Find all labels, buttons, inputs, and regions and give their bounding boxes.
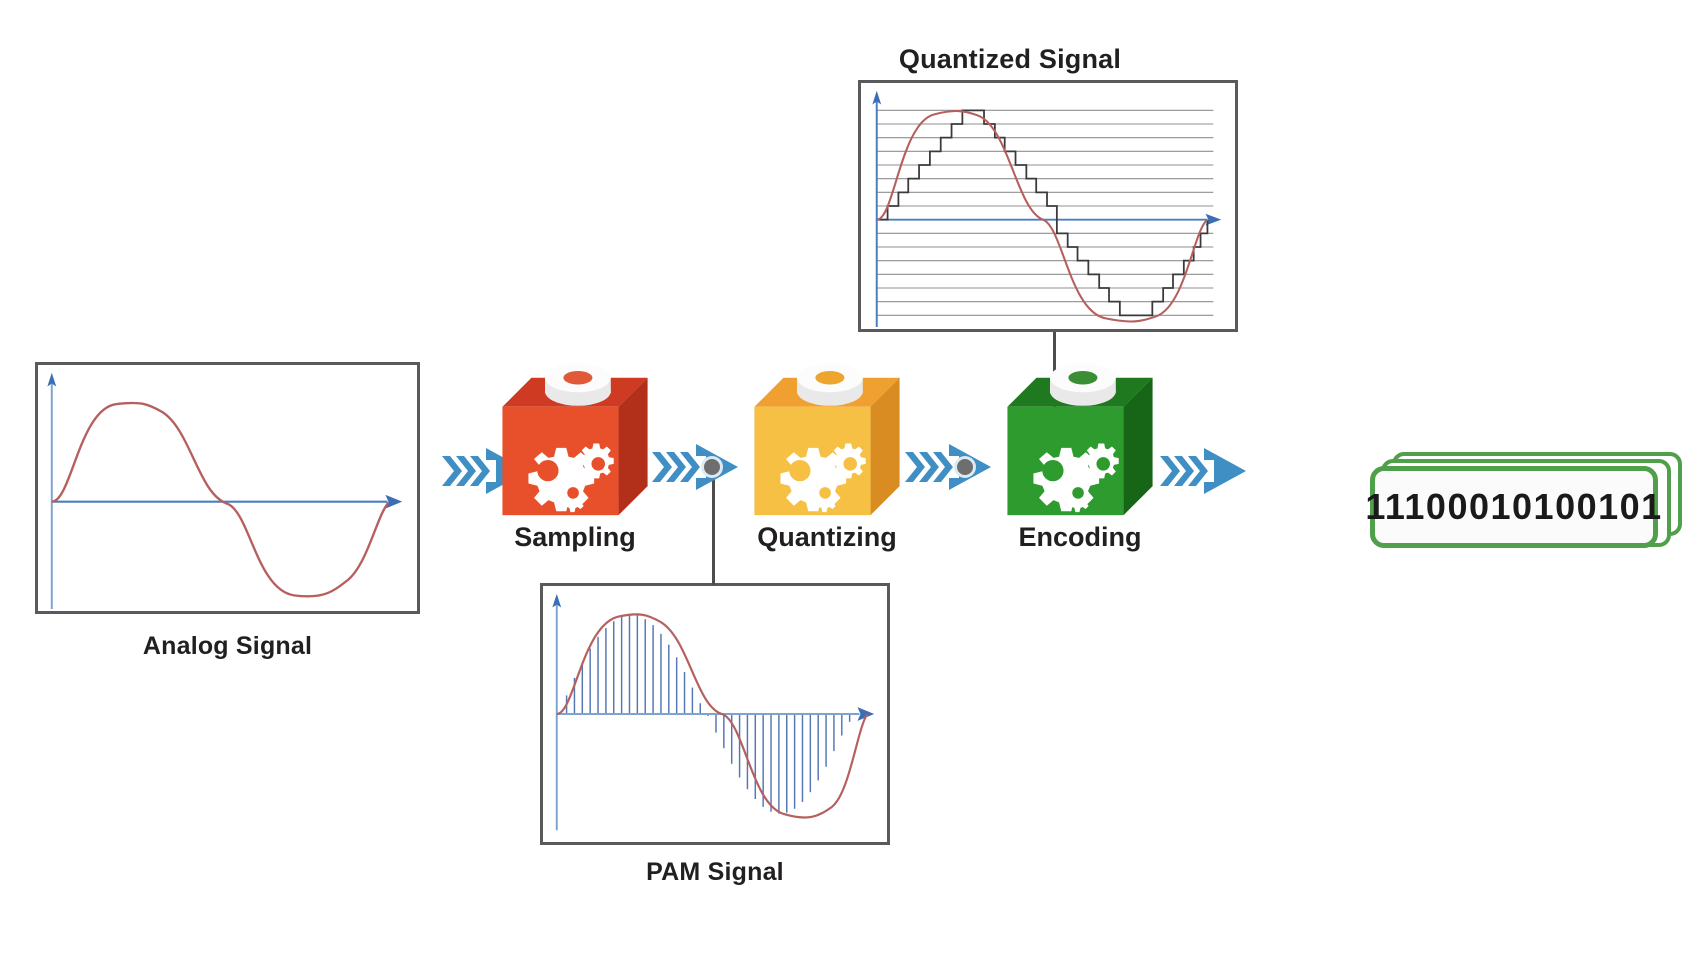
binary-output-text: 11100010100101 [1365,486,1662,528]
pcm-process-diagram: Quantized Signal [0,0,1688,974]
chevron-arrow-icon [1158,440,1254,502]
chevron-arrow-node-icon [650,436,746,498]
quantized-staircase [877,110,1208,315]
stage-cube-quantizing[interactable]: Quantizing [752,370,902,520]
quantizing-cube-icon [752,370,902,520]
stage-label-sampling: Sampling [470,522,680,553]
analog-sine-curve [52,403,389,596]
analog-signal-chart [38,365,417,611]
quantized-signal-caption: Quantized Signal [855,44,1165,75]
binary-output-stack: 11100010100101 [1370,452,1682,562]
analog-signal-caption: Analog Signal [35,632,420,661]
analog-sine-envelope [557,614,868,817]
stage-cube-encoding[interactable]: Encoding [1005,370,1155,520]
x-axis-arrowhead [385,495,402,509]
quantization-levels [877,110,1214,315]
quantized-signal-panel [858,80,1238,332]
arrow-quantizing-to-encoding [903,436,999,498]
chevron-arrow-node-icon [903,436,999,498]
arrow-sampling-to-quantizing [650,436,746,498]
analog-sine-overlay [877,111,1208,321]
stage-cube-sampling[interactable]: Sampling [500,370,650,520]
arrow-encoding-to-binary [1158,440,1254,502]
encoding-cube-icon [1005,370,1155,520]
arrow-node-dot [957,459,973,475]
analog-signal-panel [35,362,420,614]
binary-output-card[interactable]: 11100010100101 [1370,466,1658,548]
pam-signal-chart [543,586,887,842]
pam-signal-panel [540,583,890,845]
arrow-node-dot [704,459,720,475]
cube-knob-center [563,371,592,385]
stage-label-encoding: Encoding [975,522,1185,553]
quantized-signal-chart [861,83,1235,329]
pam-signal-caption: PAM Signal [540,858,890,887]
stage-label-quantizing: Quantizing [722,522,932,553]
cube-knob-center [1068,371,1097,385]
sampling-cube-icon [500,370,650,520]
cube-knob-center [815,371,844,385]
